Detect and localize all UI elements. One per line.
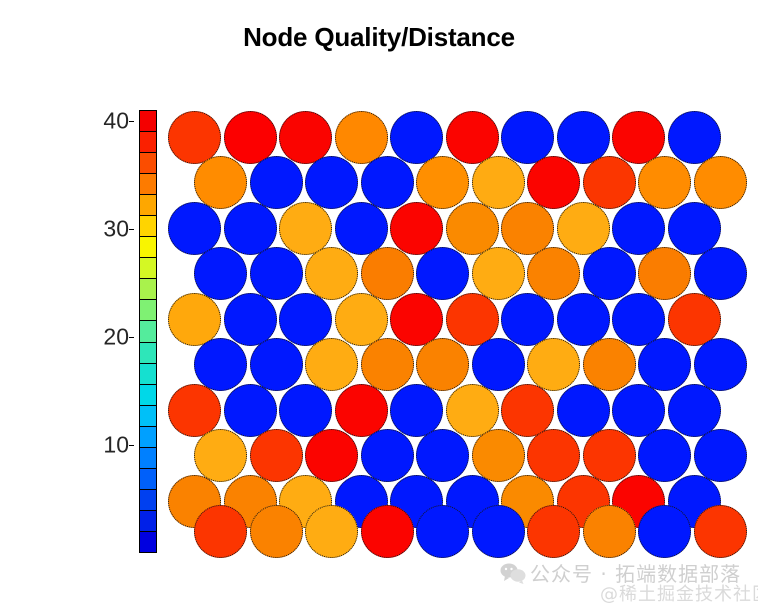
colorbar-segment — [140, 195, 156, 216]
node-marker[interactable] — [194, 505, 247, 558]
node-marker[interactable] — [694, 247, 747, 300]
colorbar-segment — [140, 258, 156, 279]
node-marker[interactable] — [583, 156, 636, 209]
node-marker[interactable] — [416, 156, 469, 209]
colorbar-tick-mark — [129, 445, 134, 446]
node-marker[interactable] — [694, 156, 747, 209]
node-marker[interactable] — [305, 505, 358, 558]
node-marker[interactable] — [250, 338, 303, 391]
node-marker[interactable] — [527, 429, 580, 482]
colorbar-segment — [140, 532, 156, 552]
node-marker[interactable] — [361, 429, 414, 482]
colorbar[interactable]: 40302010 — [139, 110, 157, 553]
colorbar-segment — [140, 153, 156, 174]
colorbar-segment — [140, 216, 156, 237]
colorbar-segment — [140, 132, 156, 153]
colorbar-gradient — [139, 110, 157, 553]
node-marker[interactable] — [250, 247, 303, 300]
node-marker[interactable] — [305, 247, 358, 300]
colorbar-segment — [140, 427, 156, 448]
node-marker[interactable] — [472, 338, 525, 391]
node-marker[interactable] — [361, 338, 414, 391]
node-marker[interactable] — [583, 338, 636, 391]
colorbar-segment — [140, 448, 156, 469]
colorbar-segment — [140, 469, 156, 490]
node-marker[interactable] — [472, 247, 525, 300]
node-marker[interactable] — [583, 247, 636, 300]
colorbar-tick-mark — [129, 229, 134, 230]
node-marker[interactable] — [638, 505, 691, 558]
node-marker[interactable] — [527, 156, 580, 209]
node-marker[interactable] — [472, 505, 525, 558]
node-marker[interactable] — [638, 247, 691, 300]
node-marker[interactable] — [694, 429, 747, 482]
node-marker[interactable] — [694, 338, 747, 391]
node-marker[interactable] — [250, 505, 303, 558]
node-marker[interactable] — [527, 505, 580, 558]
watermark-line-2: @稀土掘金技术社区 — [600, 580, 758, 606]
node-marker[interactable] — [416, 429, 469, 482]
colorbar-tick-mark — [129, 121, 134, 122]
watermark: 公众号 · 拓端数据部落 @稀土掘金技术社区 — [498, 558, 754, 604]
node-marker[interactable] — [583, 429, 636, 482]
colorbar-segment — [140, 300, 156, 321]
colorbar-segment — [140, 490, 156, 511]
node-marker[interactable] — [361, 156, 414, 209]
colorbar-segment — [140, 111, 156, 132]
node-marker[interactable] — [194, 338, 247, 391]
node-marker[interactable] — [694, 505, 747, 558]
wechat-icon — [500, 562, 526, 584]
node-marker[interactable] — [416, 247, 469, 300]
node-marker[interactable] — [583, 505, 636, 558]
colorbar-segment — [140, 321, 156, 342]
node-marker[interactable] — [194, 156, 247, 209]
colorbar-segment — [140, 364, 156, 385]
node-marker[interactable] — [361, 505, 414, 558]
colorbar-segment — [140, 406, 156, 427]
colorbar-segment — [140, 279, 156, 300]
page-title: Node Quality/Distance — [0, 22, 758, 53]
colorbar-tick-mark — [129, 337, 134, 338]
node-marker[interactable] — [361, 247, 414, 300]
node-marker[interactable] — [305, 429, 358, 482]
node-marker[interactable] — [194, 429, 247, 482]
node-marker[interactable] — [527, 247, 580, 300]
colorbar-segment — [140, 511, 156, 532]
node-marker[interactable] — [416, 505, 469, 558]
node-marker[interactable] — [472, 156, 525, 209]
colorbar-segment — [140, 343, 156, 364]
node-marker[interactable] — [416, 338, 469, 391]
node-marker[interactable] — [250, 156, 303, 209]
node-marker[interactable] — [638, 429, 691, 482]
colorbar-segment — [140, 385, 156, 406]
node-scatter-field[interactable] — [168, 106, 713, 558]
node-marker[interactable] — [194, 247, 247, 300]
node-marker[interactable] — [472, 429, 525, 482]
node-marker[interactable] — [638, 338, 691, 391]
node-marker[interactable] — [638, 156, 691, 209]
figure-canvas: Node Quality/Distance 40302010 公众号 · 拓端数… — [0, 0, 758, 606]
colorbar-segment — [140, 237, 156, 258]
node-marker[interactable] — [305, 156, 358, 209]
node-marker[interactable] — [527, 338, 580, 391]
colorbar-segment — [140, 174, 156, 195]
node-marker[interactable] — [250, 429, 303, 482]
node-marker[interactable] — [305, 338, 358, 391]
